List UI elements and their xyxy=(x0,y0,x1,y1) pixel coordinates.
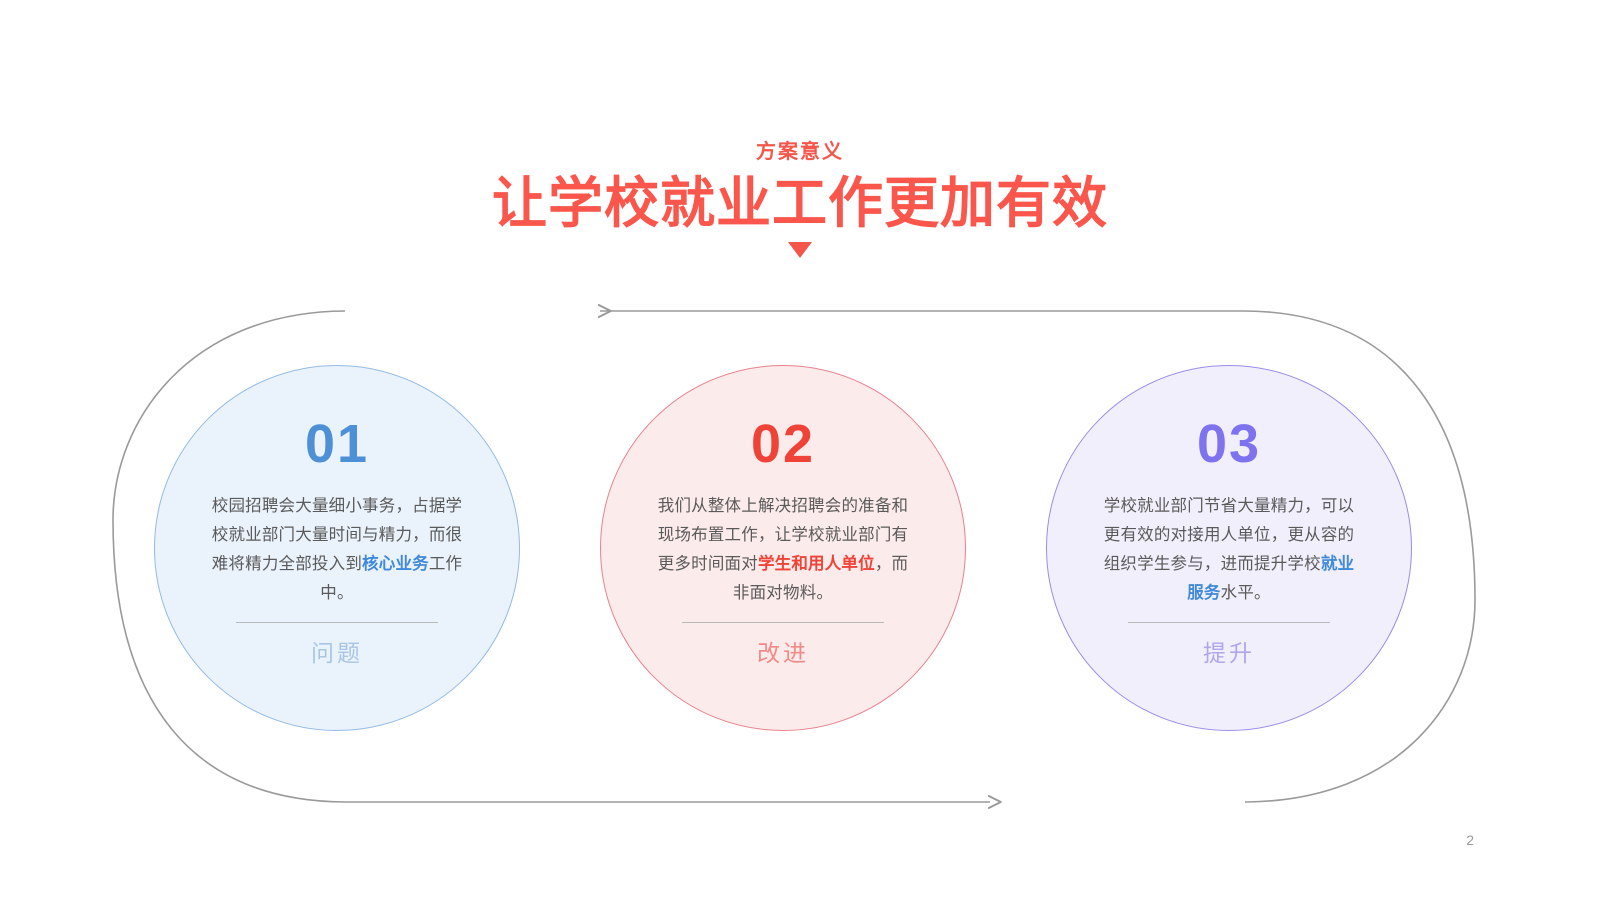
card-text-highlight: 学生和用人单位 xyxy=(758,555,875,573)
card-body-text: 校园招聘会大量细小事务，占据学校就业部门大量时间与精力，而很难将精力全部投入到核… xyxy=(206,492,468,608)
card-02[interactable]: 02 我们从整体上解决招聘会的准备和现场布置工作，让学校就业部门有更多时间面对学… xyxy=(600,365,966,731)
card-divider xyxy=(236,622,438,623)
card-caption: 改进 xyxy=(757,637,809,669)
slide-canvas: 方案意义 让学校就业工作更加有效 01 校园招聘会大量细小事务，占据学校就业部门… xyxy=(0,0,1600,900)
card-caption: 提升 xyxy=(1203,637,1255,669)
card-caption: 问题 xyxy=(311,637,363,669)
card-body-text: 学校就业部门节省大量精力，可以更有效的对接用人单位，更从容的组织学生参与，进而提… xyxy=(1098,492,1360,608)
card-number: 02 xyxy=(751,414,815,474)
card-group: 01 校园招聘会大量细小事务，占据学校就业部门大量时间与精力，而很难将精力全部投… xyxy=(0,0,1600,900)
card-text-before: 学校就业部门节省大量精力，可以更有效的对接用人单位，更从容的组织学生参与，进而提… xyxy=(1104,497,1355,573)
card-01[interactable]: 01 校园招聘会大量细小事务，占据学校就业部门大量时间与精力，而很难将精力全部投… xyxy=(154,365,520,731)
card-03[interactable]: 03 学校就业部门节省大量精力，可以更有效的对接用人单位，更从容的组织学生参与，… xyxy=(1046,365,1412,731)
card-divider xyxy=(682,622,884,623)
card-text-after: 水平。 xyxy=(1221,584,1271,602)
card-body-text: 我们从整体上解决招聘会的准备和现场布置工作，让学校就业部门有更多时间面对学生和用… xyxy=(652,492,914,608)
card-divider xyxy=(1128,622,1330,623)
card-number: 01 xyxy=(305,414,369,474)
card-text-highlight: 核心业务 xyxy=(362,555,429,573)
card-number: 03 xyxy=(1197,414,1261,474)
page-number: 2 xyxy=(1466,832,1474,848)
